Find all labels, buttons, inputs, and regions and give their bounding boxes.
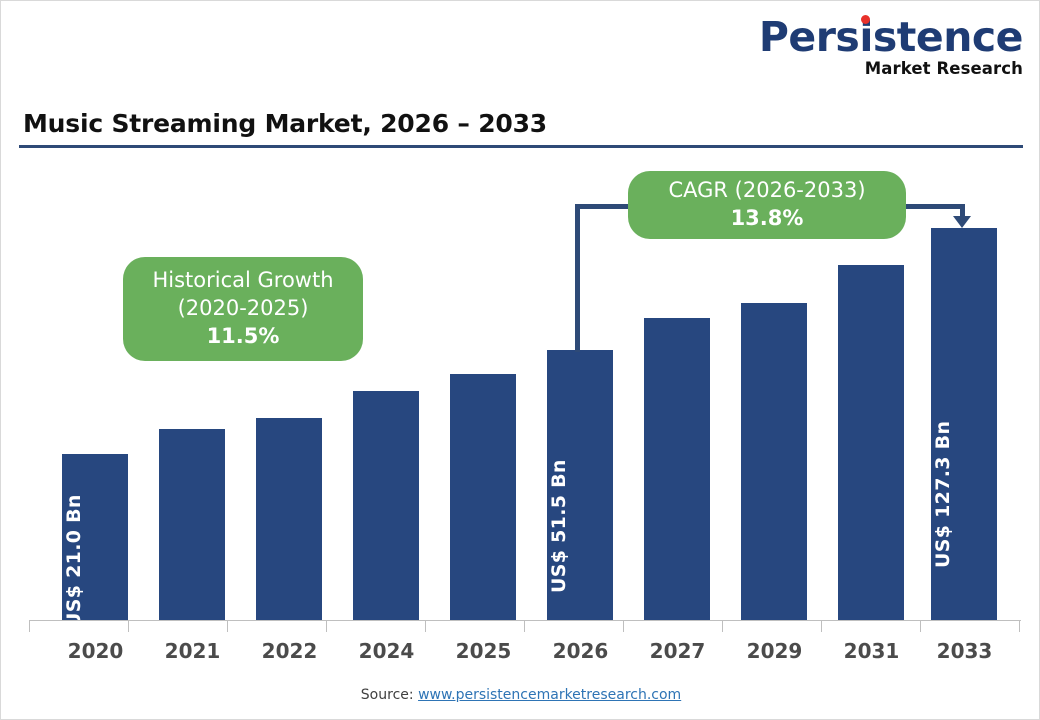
source-prefix: Source:	[361, 687, 418, 703]
axis-tick	[524, 620, 525, 632]
bar-2025	[450, 374, 516, 620]
x-label-2022: 2022	[240, 639, 339, 663]
bar-2021	[159, 429, 225, 620]
cagr-arrow-head-icon	[953, 216, 971, 228]
axis-tick	[1019, 620, 1020, 632]
cagr-line1: CAGR (2026-2033)	[668, 177, 865, 205]
bar-2022	[256, 418, 322, 620]
axis-tick	[821, 620, 822, 632]
x-label-2021: 2021	[143, 639, 242, 663]
historical-growth-value: 11.5%	[207, 323, 280, 351]
source-link[interactable]: www.persistencemarketresearch.com	[418, 687, 681, 703]
historical-growth-line1: Historical Growth	[152, 267, 333, 295]
x-label-2024: 2024	[337, 639, 436, 663]
x-label-2031: 2031	[822, 639, 921, 663]
x-label-2020: 2020	[46, 639, 145, 663]
x-label-2033: 2033	[915, 639, 1014, 663]
axis-tick	[29, 620, 30, 632]
bar-2027	[644, 318, 710, 620]
bar-value-2033: US$ 127.3 Bn	[932, 421, 954, 568]
bar-value-2026: US$ 51.5 Bn	[548, 459, 570, 593]
historical-growth-callout: Historical Growth (2020-2025) 11.5%	[123, 257, 363, 361]
bar-value-2020: US$ 21.0 Bn	[63, 494, 85, 628]
axis-tick	[128, 620, 129, 632]
x-label-2025: 2025	[434, 639, 533, 663]
bar-chart: US$ 21.0 Bn US$ 51.5 Bn US$ 127.3 Bn 202…	[1, 1, 1040, 720]
axis-tick	[425, 620, 426, 632]
x-label-2029: 2029	[725, 639, 824, 663]
bar-2029	[741, 303, 807, 620]
x-label-2027: 2027	[628, 639, 727, 663]
historical-growth-line2: (2020-2025)	[178, 295, 309, 323]
cagr-value: 13.8%	[731, 205, 804, 233]
x-label-2026: 2026	[531, 639, 630, 663]
axis-tick	[920, 620, 921, 632]
bar-2031	[838, 265, 904, 620]
axis-tick	[227, 620, 228, 632]
axis-tick	[722, 620, 723, 632]
cagr-callout: CAGR (2026-2033) 13.8%	[628, 171, 906, 239]
bar-2024	[353, 391, 419, 620]
x-axis-line	[29, 620, 1021, 621]
axis-tick	[623, 620, 624, 632]
chart-page: Persistence Market Research Music Stream…	[0, 0, 1040, 720]
cagr-connector-vertical	[575, 204, 580, 352]
axis-tick	[326, 620, 327, 632]
source-note: Source: www.persistencemarketresearch.co…	[1, 687, 1040, 703]
